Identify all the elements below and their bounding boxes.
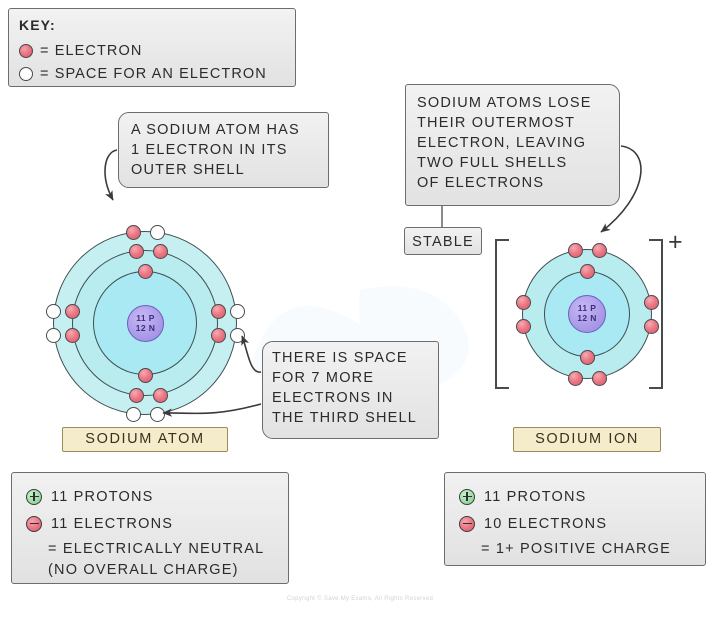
atom-shell3-space (150, 407, 165, 422)
callout-line: SODIUM ATOMS LOSE (417, 93, 611, 113)
atom-shell2-electron (153, 244, 168, 259)
summary-note: = ELECTRICALLY NEUTRAL (NO OVERALL CHARG… (26, 539, 288, 581)
key-item-electron-label: = ELECTRON (40, 41, 142, 61)
ion-charge-symbol: + (668, 228, 683, 257)
ion-shell1-electron (580, 264, 595, 279)
atom-shell2-electron (211, 328, 226, 343)
callout-line: FOR 7 MORE (272, 368, 432, 388)
bracket-left (495, 239, 509, 389)
nucleus-neutrons: 12 N (577, 314, 597, 324)
key-item-electron: = ELECTRON (19, 39, 285, 62)
atom-shell2-electron (65, 328, 80, 343)
callout-line: OUTER SHELL (131, 160, 320, 180)
callout-line: OF ELECTRONS (417, 173, 611, 193)
sodium-ion-diagram: 11 P 12 N (522, 249, 652, 379)
stable-label-box: STABLE (404, 227, 482, 255)
ion-shell2-electron (516, 319, 531, 334)
summary-protons-row: 11 PROTONS (26, 483, 288, 510)
atom-shell3-space (126, 407, 141, 422)
atom-shell2-electron (153, 388, 168, 403)
plus-charge-icon (26, 489, 42, 505)
sodium-atom-diagram: 11 P 12 N (39, 231, 251, 414)
atom-shell1-electron (138, 368, 153, 383)
summary-sodium-ion: 11 PROTONS 10 ELECTRONS = 1+ POSITIVE CH… (444, 472, 706, 566)
callout-line: 1 ELECTRON IN ITS (131, 140, 320, 160)
summary-sodium-atom: 11 PROTONS 11 ELECTRONS = ELECTRICALLY N… (11, 472, 289, 584)
callout-line: ELECTRON, LEAVING (417, 133, 611, 153)
atom-shell3-electron (126, 225, 141, 240)
summary-protons-row: 11 PROTONS (459, 483, 705, 510)
empty-circle-icon (19, 67, 33, 81)
key-item-space: = SPACE FOR AN ELECTRON (19, 62, 285, 85)
ion-shell2-electron (516, 295, 531, 310)
summary-electrons-label: 10 ELECTRONS (484, 516, 607, 532)
key-title: KEY: (19, 16, 285, 35)
atom-shell3-space (230, 304, 245, 319)
diagram-canvas: KEY: = ELECTRON = SPACE FOR AN ELECTRON … (0, 0, 720, 621)
key-item-space-label: = SPACE FOR AN ELECTRON (40, 64, 267, 84)
ion-shell1-electron (580, 350, 595, 365)
summary-protons-label: 11 PROTONS (484, 489, 587, 505)
callout-line: A SODIUM ATOM HAS (131, 120, 320, 140)
atom-shell3-space (230, 328, 245, 343)
atom-shell2-electron (129, 388, 144, 403)
ion-shell2-electron (568, 243, 583, 258)
ion-shell2-electron (644, 295, 659, 310)
ion-nucleus: 11 P 12 N (568, 295, 606, 333)
minus-charge-icon (459, 516, 475, 532)
callout-line: THEIR OUTERMOST (417, 113, 611, 133)
minus-charge-icon (26, 516, 42, 532)
summary-note-line: (NO OVERALL CHARGE) (48, 560, 288, 581)
caption-sodium-ion: SODIUM ION (513, 427, 661, 452)
key-legend-box: KEY: = ELECTRON = SPACE FOR AN ELECTRON (8, 8, 296, 87)
callout-line: TWO FULL SHELLS (417, 153, 611, 173)
callout-line: THERE IS SPACE (272, 348, 432, 368)
copyright-watermark: Copyright © Save My Exams, All Rights Re… (0, 596, 720, 602)
ion-shell2-electron (568, 371, 583, 386)
atom-shell1-electron (138, 264, 153, 279)
callout-line: ELECTRONS IN (272, 388, 432, 408)
atom-shell3-space (46, 304, 61, 319)
summary-electrons-row: 11 ELECTRONS (26, 510, 288, 537)
atom-shell3-space (150, 225, 165, 240)
stable-label: STABLE (412, 234, 474, 250)
callout-space-for-seven: THERE IS SPACE FOR 7 MORE ELECTRONS IN T… (262, 341, 439, 439)
summary-note: = 1+ POSITIVE CHARGE (459, 539, 705, 560)
atom-nucleus: 11 P 12 N (127, 305, 164, 342)
callout-atom-outer-shell: A SODIUM ATOM HAS 1 ELECTRON IN ITS OUTE… (118, 112, 329, 188)
atom-shell2-electron (65, 304, 80, 319)
ion-shell2-electron (592, 371, 607, 386)
summary-note-line: = 1+ POSITIVE CHARGE (481, 539, 705, 560)
ion-shell2-electron (644, 319, 659, 334)
summary-electrons-row: 10 ELECTRONS (459, 510, 705, 537)
summary-electrons-label: 11 ELECTRONS (51, 516, 173, 532)
filled-circle-icon (19, 44, 33, 58)
summary-note-line: = ELECTRICALLY NEUTRAL (48, 539, 288, 560)
atom-shell2-electron (129, 244, 144, 259)
callout-ion-lose-electron: SODIUM ATOMS LOSE THEIR OUTERMOST ELECTR… (405, 84, 620, 206)
callout-line: THE THIRD SHELL (272, 408, 432, 428)
arrow-atom-outer-shell (105, 150, 117, 200)
atom-shell3-space (46, 328, 61, 343)
caption-sodium-atom: SODIUM ATOM (62, 427, 228, 452)
ion-shell2-electron (592, 243, 607, 258)
summary-protons-label: 11 PROTONS (51, 489, 154, 505)
plus-charge-icon (459, 489, 475, 505)
nucleus-neutrons: 12 N (136, 324, 156, 334)
atom-shell2-electron (211, 304, 226, 319)
